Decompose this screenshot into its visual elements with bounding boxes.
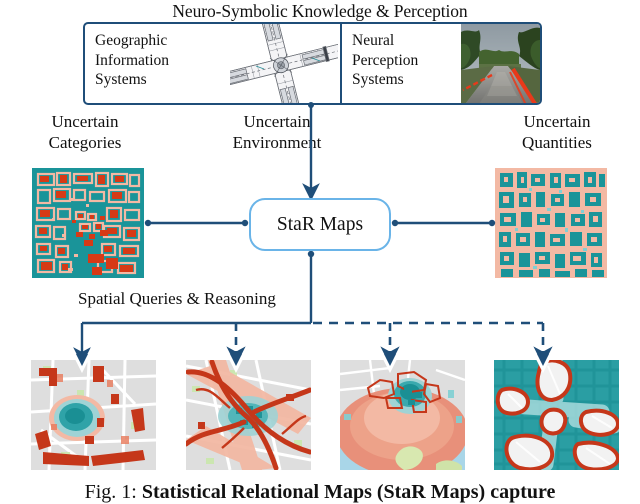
gis-label-line-3: Systems	[95, 70, 169, 90]
query-result-map-4	[494, 360, 619, 470]
star-maps-node-label: StaR Maps	[277, 214, 363, 236]
query-result-map-1	[31, 360, 156, 470]
edge-star-to-queries	[308, 251, 314, 323]
query-result-map-3	[340, 360, 465, 470]
road-scene-svg	[461, 24, 540, 103]
label-uncertain-categories: Uncertain Categories	[22, 112, 148, 153]
uncertain-quantities-line-1: Uncertain	[492, 112, 622, 133]
gis-label-line-1: Geographic	[95, 31, 169, 51]
star-maps-node[interactable]: StaR Maps	[249, 198, 391, 251]
uncertain-environment-line-2: Environment	[215, 133, 339, 154]
query-result-map-1-svg	[31, 360, 156, 470]
uncertain-categories-line-1: Uncertain	[22, 112, 148, 133]
neural-perception-panel: Neural Perception Systems	[342, 24, 540, 103]
query-result-map-4-svg	[494, 360, 619, 470]
edge-categories-to-star	[145, 220, 248, 226]
nps-panel-label: Neural Perception Systems	[342, 24, 418, 103]
label-uncertain-quantities: Uncertain Quantities	[492, 112, 622, 153]
gis-panel: Geographic Information Systems	[85, 24, 342, 103]
figure-caption: Fig. 1: Statistical Relational Maps (Sta…	[0, 481, 640, 503]
edge-quantities-to-star	[392, 220, 495, 226]
nps-label-line-2: Perception	[352, 51, 418, 71]
uncertain-categories-map-svg	[32, 168, 144, 278]
uncertain-categories-map	[32, 168, 144, 278]
query-result-map-2	[186, 360, 311, 470]
gis-road-network-svg	[230, 24, 338, 103]
uncertain-quantities-map	[495, 168, 607, 278]
uncertain-categories-line-2: Categories	[22, 133, 148, 154]
gis-panel-label: Geographic Information Systems	[85, 24, 169, 103]
caption-bold-text: Statistical Relational Maps (StaR Maps) …	[142, 481, 556, 503]
neuro-symbolic-box: Geographic Information Systems	[83, 22, 542, 105]
label-uncertain-environment: Uncertain Environment	[215, 112, 339, 153]
uncertain-quantities-map-svg	[495, 168, 607, 278]
nps-label-line-1: Neural	[352, 31, 418, 51]
gis-label-line-2: Information	[95, 51, 169, 71]
query-result-map-3-svg	[340, 360, 465, 470]
uncertain-quantities-line-2: Quantities	[492, 133, 622, 154]
caption-prefix: Fig. 1:	[85, 481, 142, 503]
query-result-map-2-svg	[186, 360, 311, 470]
uncertain-environment-line-1: Uncertain	[215, 112, 339, 133]
top-heading: Neuro-Symbolic Knowledge & Perception	[0, 1, 640, 22]
gis-road-network-cad-drawing	[230, 24, 338, 103]
figure-root: Neuro-Symbolic Knowledge & Perception Ge…	[0, 0, 640, 504]
nps-label-line-3: Systems	[352, 70, 418, 90]
road-scene-photo-with-red-lane-overlay	[461, 24, 540, 103]
label-spatial-queries: Spatial Queries & Reasoning	[76, 289, 278, 309]
